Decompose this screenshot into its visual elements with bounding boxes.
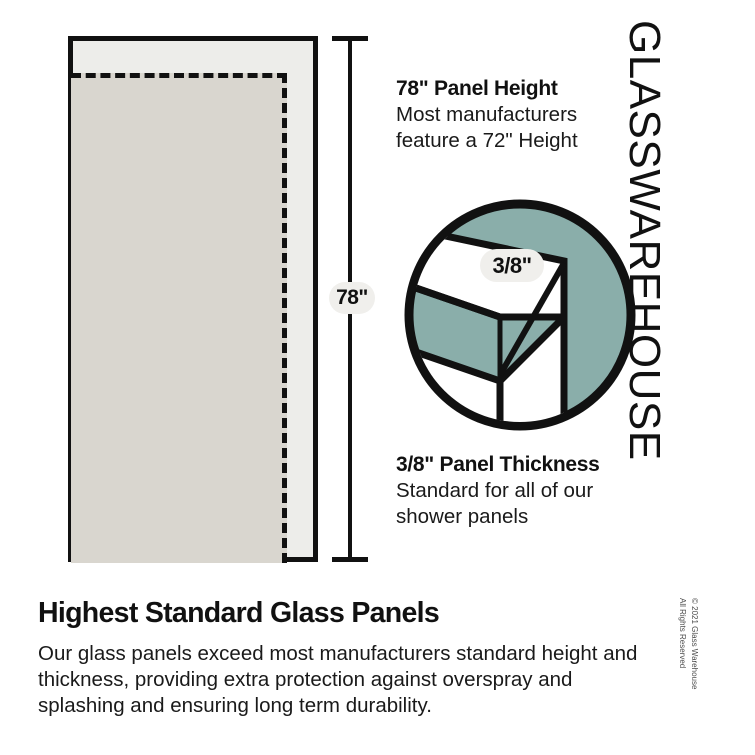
callout-panel-height-title: 78" Panel Height	[396, 76, 644, 101]
copyright-line-2: All Rights Reserved	[677, 598, 689, 728]
standard-height-dashed-outline	[71, 73, 287, 563]
page-title: Highest Standard Glass Panels	[38, 598, 656, 629]
panel-height-badge: 78"	[329, 282, 375, 314]
dimension-cap-bottom-icon	[332, 557, 368, 562]
copyright-notice: © 2021 Glass Warehouse All Rights Reserv…	[674, 598, 700, 728]
infographic-canvas: 78" 78" Panel Height Most manufacturers …	[0, 0, 755, 755]
dimension-cap-top-icon	[332, 36, 368, 41]
callout-panel-thickness-title: 3/8" Panel Thickness	[396, 452, 644, 477]
brand-wordmark: GLASSWAREHOUSE	[612, 20, 676, 450]
footer-text-block: Highest Standard Glass Panels Our glass …	[38, 598, 656, 719]
panel-thickness-badge: 3/8"	[480, 249, 544, 282]
footer-description: Our glass panels exceed most manufacture…	[38, 641, 656, 719]
panel-thickness-diagram	[404, 199, 636, 431]
copyright-line-1: © 2021 Glass Warehouse	[688, 598, 700, 728]
callout-panel-thickness-body: Standard for all of our shower panels	[396, 478, 644, 530]
glass-panel-illustration	[68, 36, 318, 562]
callout-panel-height: 78" Panel Height Most manufacturers feat…	[396, 76, 644, 154]
callout-panel-height-body: Most manufacturers feature a 72" Height	[396, 102, 644, 154]
callout-panel-thickness: 3/8" Panel Thickness Standard for all of…	[396, 452, 644, 530]
